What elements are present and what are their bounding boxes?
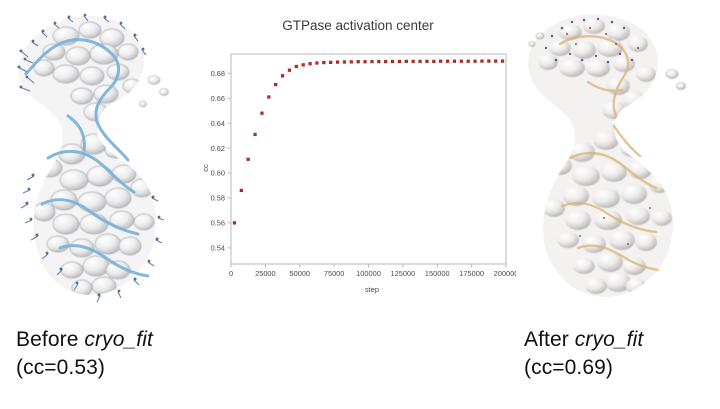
data-point [302, 64, 305, 67]
y-tick-label: 0.58 [211, 194, 225, 203]
data-point [384, 60, 387, 63]
data-point [419, 60, 422, 63]
x-axis-label: step [365, 285, 379, 294]
data-point [261, 112, 264, 115]
y-tick-label: 0.60 [211, 169, 225, 178]
right-caption-prefix: After [524, 328, 575, 351]
data-point [329, 61, 332, 64]
x-tick-label: 50000 [289, 269, 310, 278]
data-point [309, 62, 312, 65]
left-caption-line1: Before cryo_fit [16, 326, 153, 354]
data-point [446, 60, 449, 63]
right-structure-image [518, 8, 712, 308]
x-tick-label: 100000 [356, 269, 381, 278]
right-caption: After cryo_fit (cc=0.69) [524, 326, 643, 381]
data-point [364, 60, 367, 63]
data-point [357, 60, 360, 63]
y-tick-label: 0.54 [211, 243, 225, 252]
plot-area: 0250005000075000100000125000150000175000… [211, 54, 516, 278]
y-axis-label: cc [201, 164, 210, 172]
right-caption-line2: (cc=0.69) [524, 354, 643, 382]
data-point [439, 60, 442, 63]
data-point [474, 60, 477, 63]
right-caption-line1: After cryo_fit [524, 326, 643, 354]
left-caption-italic: cryo_fit [84, 328, 153, 351]
data-point [268, 96, 271, 99]
x-tick-label: 75000 [324, 269, 345, 278]
data-point [453, 60, 456, 63]
density-map-right [518, 8, 712, 308]
data-point [391, 60, 394, 63]
data-point [460, 60, 463, 63]
x-tick-label: 25000 [255, 269, 276, 278]
x-tick-label: 200000 [494, 269, 516, 278]
data-point [488, 60, 491, 63]
left-caption-line2: (cc=0.53) [16, 354, 153, 382]
data-point [405, 60, 408, 63]
y-tick-label: 0.66 [211, 94, 225, 103]
data-point [343, 61, 346, 64]
data-point [254, 133, 257, 136]
data-point [233, 222, 236, 225]
data-point [481, 60, 484, 63]
density-map-left [8, 8, 200, 308]
data-point [371, 60, 374, 63]
cc-vs-step-chart: GTPase activation center 025000500007500… [200, 8, 516, 300]
data-point [412, 60, 415, 63]
data-point [433, 60, 436, 63]
data-point [426, 60, 429, 63]
data-point [281, 75, 284, 78]
data-point [378, 60, 381, 63]
data-point [295, 65, 298, 68]
y-tick-label: 0.64 [211, 119, 225, 128]
x-tick-label: 150000 [425, 269, 450, 278]
y-tick-label: 0.68 [211, 69, 225, 78]
x-tick-label: 125000 [391, 269, 416, 278]
data-point [240, 189, 243, 192]
data-point [323, 61, 326, 64]
density-fragments-left [140, 76, 169, 108]
x-tick-label: 0 [229, 269, 233, 278]
data-point [247, 158, 250, 161]
data-point [350, 61, 353, 64]
data-point [316, 62, 319, 65]
plot-frame [231, 54, 506, 264]
left-caption: Before cryo_fit (cc=0.53) [16, 326, 153, 381]
left-caption-prefix: Before [16, 328, 84, 351]
data-point [501, 60, 504, 63]
right-caption-italic: cryo_fit [575, 328, 644, 351]
chart-title: GTPase activation center [282, 18, 434, 33]
data-point [467, 60, 470, 63]
data-point [398, 60, 401, 63]
data-point [336, 61, 339, 64]
x-tick-label: 175000 [459, 269, 484, 278]
y-tick-label: 0.56 [211, 219, 225, 228]
data-point [494, 60, 497, 63]
data-point [288, 69, 291, 72]
left-structure-image [8, 8, 200, 308]
figure-canvas: GTPase activation center 025000500007500… [0, 0, 720, 409]
y-tick-label: 0.62 [211, 144, 225, 153]
data-point [274, 83, 277, 86]
